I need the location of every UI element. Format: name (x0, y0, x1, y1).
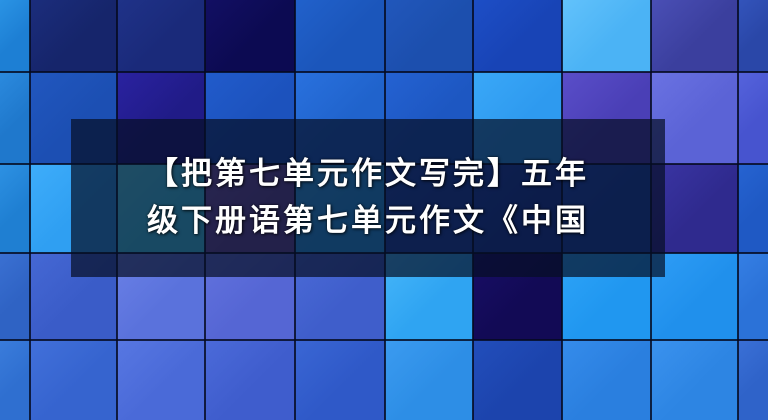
mosaic-tile (0, 72, 30, 164)
mosaic-tile (738, 164, 768, 253)
mosaic-tile (205, 340, 295, 420)
caption-line-2: 级下册语第七单元作文《中国 (147, 201, 589, 242)
mosaic-tile (738, 253, 768, 340)
mosaic-tile (117, 0, 205, 72)
caption-line-1: 【把第七单元作文写完】五年 (147, 154, 589, 195)
mosaic-tile (562, 0, 651, 72)
mosaic-tile (0, 340, 30, 420)
mosaic-tile (295, 0, 385, 72)
banner-image: 【把第七单元作文写完】五年 级下册语第七单元作文《中国 (0, 0, 768, 420)
mosaic-tile (30, 0, 117, 72)
mosaic-tile (385, 340, 473, 420)
mosaic-tile (473, 0, 562, 72)
mosaic-tile (117, 340, 205, 420)
mosaic-tile (295, 340, 385, 420)
grid-line-vertical (29, 0, 31, 420)
mosaic-tile (30, 340, 117, 420)
mosaic-tile (205, 0, 295, 72)
mosaic-tile (738, 72, 768, 164)
mosaic-tile (651, 340, 738, 420)
grid-line-vertical (737, 0, 739, 420)
mosaic-tile (0, 0, 30, 72)
mosaic-tile (0, 164, 30, 253)
mosaic-tile (738, 340, 768, 420)
mosaic-tile (0, 253, 30, 340)
mosaic-tile (385, 0, 473, 72)
grid-line-horizontal (0, 71, 768, 73)
mosaic-tile (651, 0, 738, 72)
grid-line-horizontal (0, 339, 768, 341)
caption-text-block: 【把第七单元作文写完】五年 级下册语第七单元作文《中国 (71, 119, 665, 277)
mosaic-tile (738, 0, 768, 72)
mosaic-tile (562, 340, 651, 420)
mosaic-tile (473, 340, 562, 420)
